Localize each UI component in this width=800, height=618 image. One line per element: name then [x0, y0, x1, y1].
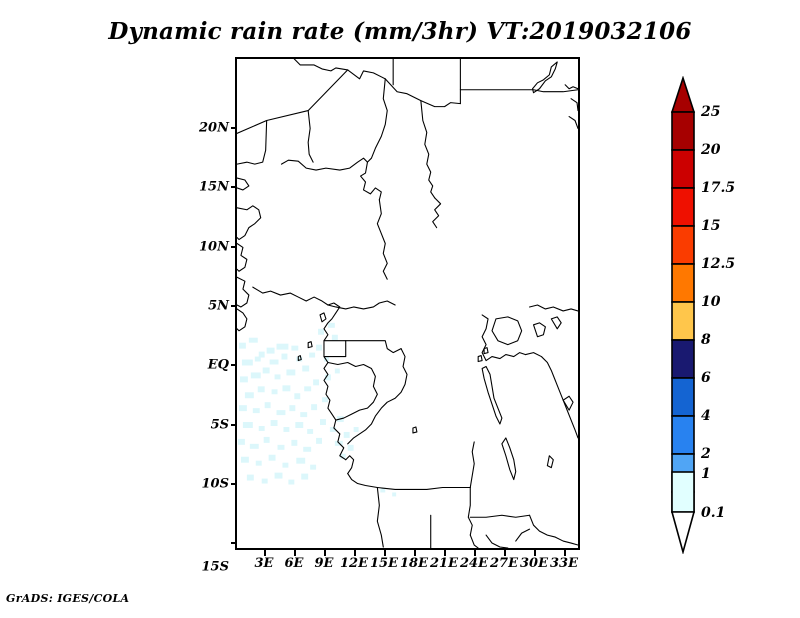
y-tick-mark-eq [231, 364, 237, 366]
x-tick-label-21e: 21E [430, 556, 458, 571]
x-axis-labels: 3E 6E 9E 12E 15E 18E 21E 24E 27E 30E 33E [235, 556, 580, 578]
y-tick-mark-5s [231, 424, 237, 426]
colorbar-band-20-25 [672, 150, 694, 188]
x-tick-mark-12e [354, 550, 356, 556]
x-tick-mark-18e [414, 550, 416, 556]
y-tick-label-5s: 5S [211, 418, 229, 433]
colorbar-label-15: 15 [701, 218, 720, 234]
y-tick-mark-10n [231, 246, 237, 248]
x-tick-label-24e: 24E [460, 556, 488, 571]
x-tick-mark-21e [444, 550, 446, 556]
x-tick-label-33e: 33E [550, 556, 578, 571]
y-tick-label-10n: 10N [199, 240, 229, 255]
colorbar-band-25-plus [672, 112, 694, 150]
colorbar-canvas [669, 76, 697, 554]
y-tick-mark-15n [231, 186, 237, 188]
y-tick-label-15s: 15S [185, 560, 229, 575]
grads-attribution: GrADS: IGES/COLA [6, 592, 129, 605]
colorbar-band-0p1-1 [672, 472, 694, 512]
x-tick-label-3e: 3E [255, 556, 274, 571]
colorbar-extend-min [672, 512, 694, 552]
y-axis-labels: 20N 15N 10N 5N EQ 5S 10S [185, 57, 229, 550]
x-tick-label-30e: 30E [520, 556, 548, 571]
map-coastlines-and-borders [237, 59, 578, 548]
colorbar-band-17p5-20 [672, 188, 694, 226]
x-tick-mark-15e [384, 550, 386, 556]
x-tick-label-15e: 15E [370, 556, 398, 571]
y-tick-mark-15s [231, 542, 237, 544]
x-tick-mark-3e [264, 550, 266, 556]
rain-rate-shading [238, 323, 553, 548]
colorbar-label-0p1: 0.1 [701, 505, 725, 521]
y-tick-mark-20n [231, 127, 237, 129]
colorbar-band-15-17p5 [672, 226, 694, 264]
colorbar-label-1: 1 [701, 466, 711, 482]
colorbar-band-6-8 [672, 378, 694, 416]
colorbar-labels: 25 20 17.5 15 12.5 10 8 6 4 2 1 0.1 [697, 76, 767, 554]
colorbar-band-10-12p5 [672, 302, 694, 340]
x-tick-label-27e: 27E [490, 556, 518, 571]
x-tick-mark-9e [324, 550, 326, 556]
x-tick-mark-33e [564, 550, 566, 556]
colorbar-band-12p5-15 [672, 264, 694, 302]
colorbar-label-17p5: 17.5 [701, 180, 735, 196]
colorbar[interactable] [669, 76, 697, 554]
y-tick-label-10s: 10S [202, 477, 229, 492]
colorbar-label-25: 25 [701, 104, 720, 120]
colorbar-label-12p5: 12.5 [701, 256, 735, 272]
colorbar-bands [672, 112, 694, 512]
colorbar-label-20: 20 [701, 142, 720, 158]
y-tick-label-5n: 5N [208, 299, 229, 314]
colorbar-band-4-6 [672, 416, 694, 454]
x-tick-mark-24e [474, 550, 476, 556]
x-tick-label-9e: 9E [315, 556, 334, 571]
map-plot-area[interactable] [235, 57, 580, 550]
y-tick-mark-10s [231, 483, 237, 485]
x-tick-label-12e: 12E [340, 556, 368, 571]
map-canvas [237, 59, 578, 548]
x-tick-mark-6e [294, 550, 296, 556]
x-tick-label-18e: 18E [400, 556, 428, 571]
x-tick-mark-30e [534, 550, 536, 556]
colorbar-label-10: 10 [701, 294, 720, 310]
colorbar-label-2: 2 [701, 446, 711, 462]
colorbar-label-8: 8 [701, 332, 711, 348]
y-tick-label-15n: 15N [199, 180, 229, 195]
x-tick-label-6e: 6E [285, 556, 304, 571]
y-tick-mark-5n [231, 305, 237, 307]
colorbar-extend-max [672, 78, 694, 112]
colorbar-label-6: 6 [701, 370, 711, 386]
colorbar-band-8-10 [672, 340, 694, 378]
y-tick-label-eq: EQ [208, 358, 229, 373]
y-tick-label-20n: 20N [199, 121, 229, 136]
x-tick-mark-27e [504, 550, 506, 556]
page-title: Dynamic rain rate (mm/3hr) VT:2019032106 [0, 18, 800, 45]
colorbar-label-4: 4 [701, 408, 711, 424]
